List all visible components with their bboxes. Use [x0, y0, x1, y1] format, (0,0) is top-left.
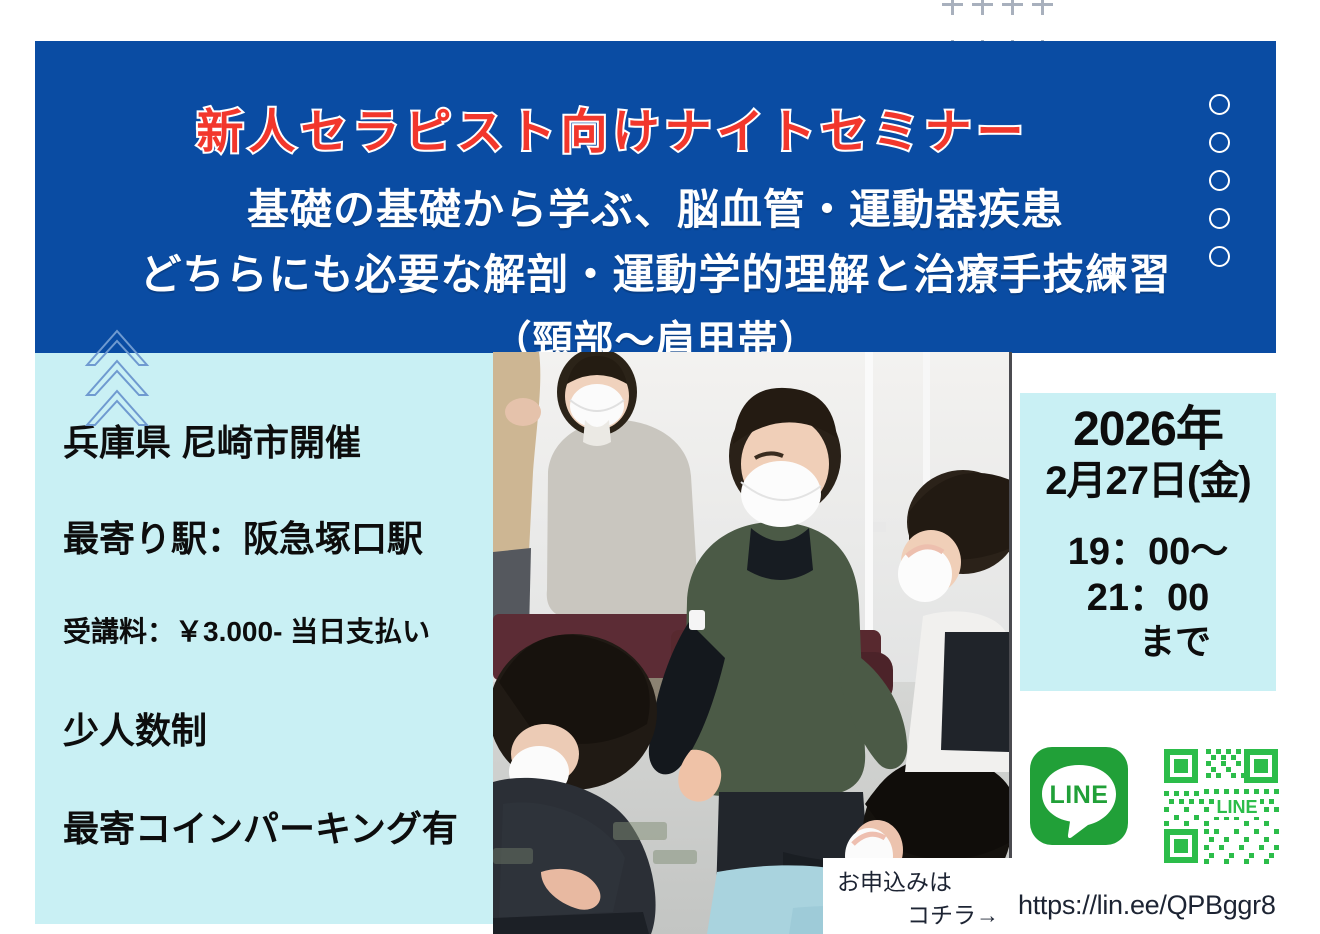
seminar-photo-graphic: [493, 352, 1009, 934]
svg-text:LINE: LINE: [1216, 797, 1257, 817]
poster-title: 新人セラピスト向けナイトセミナー: [35, 93, 1190, 162]
poster-root: 新人セラピスト向けナイトセミナー 基礎の基礎から学ぶ、脳血管・運動器疾患 どちら…: [0, 0, 1320, 934]
qr-code-icon: LINE: [1160, 745, 1282, 867]
plus-icon: [968, 0, 998, 28]
detail-parking: 最寄コインパーキング有: [63, 800, 493, 852]
seminar-photo: [493, 352, 1012, 934]
event-date: 2月27日(金): [1020, 457, 1276, 505]
detail-location: 兵庫県 尼崎市開催: [63, 414, 493, 466]
poster-subtitle-line-1: 基礎の基礎から学ぶ、脳血管・運動器疾患: [35, 176, 1276, 237]
header-banner: 新人セラピスト向けナイトセミナー 基礎の基礎から学ぶ、脳血管・運動器疾患 どちら…: [35, 41, 1276, 353]
detail-fee: 受講料：￥3.000- 当日支払い: [63, 610, 493, 650]
circle-icon: [1209, 208, 1230, 229]
plus-icon: [998, 0, 1028, 28]
apply-callout-line-1: お申込みは: [837, 866, 999, 899]
event-time-suffix: まで: [1020, 622, 1276, 662]
circle-dots-decoration: [1209, 94, 1230, 267]
detail-capacity: 少人数制: [63, 702, 493, 754]
apply-callout-box: お申込みは コチラ→: [823, 858, 1013, 934]
line-qr-code[interactable]: LINE: [1160, 745, 1282, 867]
circle-icon: [1209, 246, 1230, 267]
plus-icon: [938, 0, 968, 28]
line-logo[interactable]: LINE: [1030, 747, 1128, 845]
event-time-end: 21：00: [1020, 575, 1276, 621]
circle-icon: [1209, 132, 1230, 153]
poster-subtitle-line-2: どちらにも必要な解剖・運動学的理解と治療手技練習: [35, 241, 1276, 302]
plus-icon: [1028, 0, 1058, 28]
circle-icon: [1209, 94, 1230, 115]
event-details-panel: 兵庫県 尼崎市開催 最寄り駅：阪急塚口駅 受講料：￥3.000- 当日支払い 少…: [35, 352, 493, 924]
apply-callout-line-2: コチラ→: [837, 899, 999, 932]
svg-text:LINE: LINE: [1050, 781, 1109, 809]
date-time-box: 2026年 2月27日(金) 19：00〜 21：00 まで: [1020, 393, 1276, 691]
event-year: 2026年: [1020, 404, 1276, 457]
event-time-start: 19：00〜: [1020, 529, 1276, 575]
line-url-text[interactable]: https://lin.ee/QPBggr8: [1018, 890, 1276, 921]
detail-nearest-station: 最寄り駅：阪急塚口駅: [63, 510, 493, 562]
line-app-icon: LINE: [1030, 747, 1128, 845]
circle-icon: [1209, 170, 1230, 191]
